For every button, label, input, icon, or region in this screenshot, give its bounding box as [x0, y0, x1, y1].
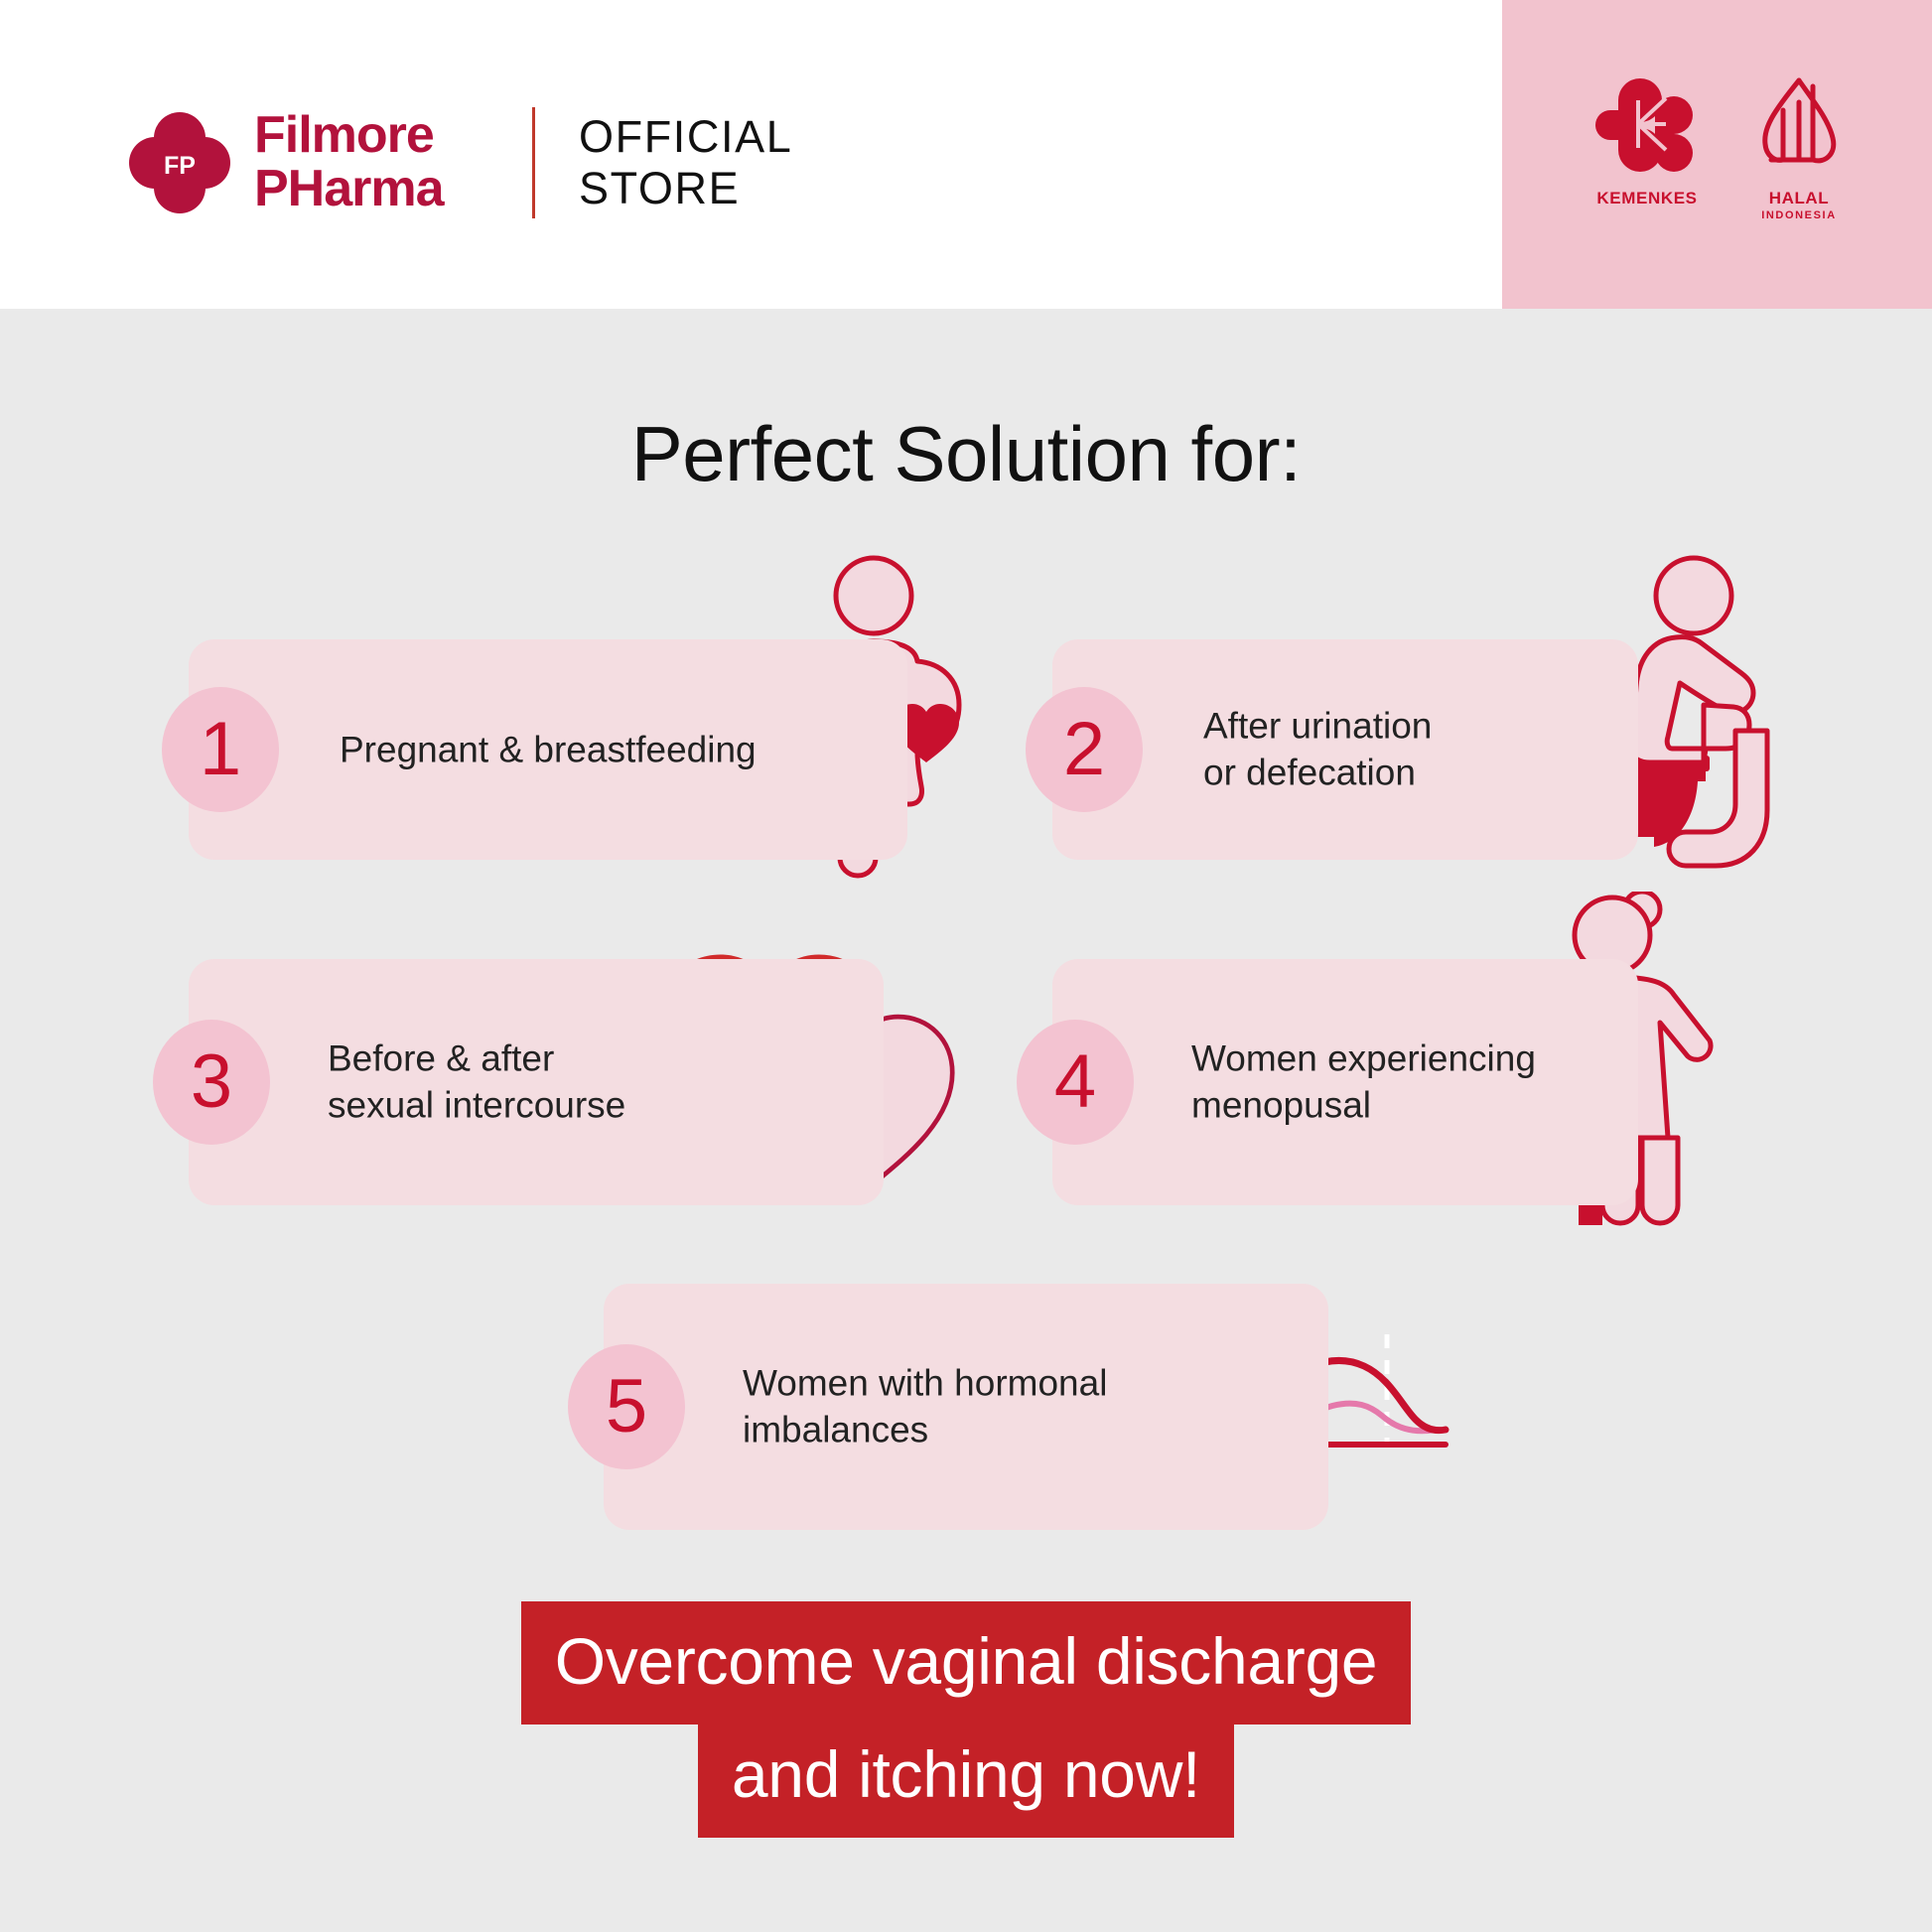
- item-number-badge: 4: [1017, 1020, 1134, 1145]
- cta-text-line-2: and itching now!: [698, 1715, 1234, 1838]
- solution-item-5[interactable]: 5 Women with hormonal imbalances: [604, 1284, 1328, 1530]
- promo-poster: FP Filmore PHarma OFFICIAL STORE: [0, 0, 1932, 1932]
- header: FP Filmore PHarma OFFICIAL STORE: [0, 0, 1932, 309]
- solution-item-3[interactable]: 3 Before & after sexual intercourse: [189, 959, 884, 1205]
- brand-name-line2: PHarma: [254, 163, 490, 216]
- official-store-label: OFFICIAL STORE: [579, 111, 792, 214]
- item-label: Women experiencing menopusal: [1191, 1035, 1536, 1130]
- item-label: Before & after sexual intercourse: [328, 1035, 625, 1130]
- svg-text:FP: FP: [164, 152, 196, 180]
- cta-text-line-1: Overcome vaginal discharge: [521, 1601, 1412, 1725]
- badge-halal: HALAL INDONESIA: [1751, 72, 1847, 221]
- item-number-badge: 5: [568, 1344, 685, 1469]
- item-label: After urination or defecation: [1203, 703, 1432, 797]
- brand-lockup[interactable]: FP Filmore PHarma OFFICIAL STORE: [129, 107, 792, 218]
- halal-caption: HALAL INDONESIA: [1761, 189, 1837, 221]
- filmore-pharma-logo-icon: FP: [129, 112, 230, 213]
- certification-badges: KEMENKES HALAL: [1588, 72, 1847, 221]
- cta-banner-line-2: and itching now!: [0, 1715, 1932, 1838]
- item-number-badge: 2: [1026, 687, 1143, 812]
- cta-banner-line-1: Overcome vaginal discharge: [0, 1601, 1932, 1725]
- item-label: Pregnant & breastfeeding: [340, 726, 757, 772]
- solution-item-2[interactable]: 2 After urination or defecation: [1052, 639, 1638, 860]
- solution-item-4[interactable]: 4 Women experiencing menopusal: [1052, 959, 1638, 1205]
- badge-kemenkes: KEMENKES: [1588, 72, 1706, 208]
- solution-item-1[interactable]: 1 Pregnant & breastfeeding: [189, 639, 907, 860]
- item-label: Women with hormonal imbalances: [743, 1360, 1107, 1454]
- page-title: Perfect Solution for:: [0, 409, 1932, 499]
- svg-text:PHarma: PHarma: [254, 163, 446, 216]
- brand-divider: [532, 107, 535, 218]
- kemenkes-caption: KEMENKES: [1596, 189, 1697, 208]
- halal-logo-icon: [1751, 72, 1847, 183]
- item-number-badge: 1: [162, 687, 279, 812]
- item-number-badge: 3: [153, 1020, 270, 1145]
- kemenkes-logo-icon: [1588, 72, 1706, 183]
- brand-name-line1: Filmore: [254, 109, 490, 163]
- brand-wordmark: Filmore PHarma: [254, 109, 490, 216]
- svg-text:Filmore: Filmore: [254, 109, 434, 163]
